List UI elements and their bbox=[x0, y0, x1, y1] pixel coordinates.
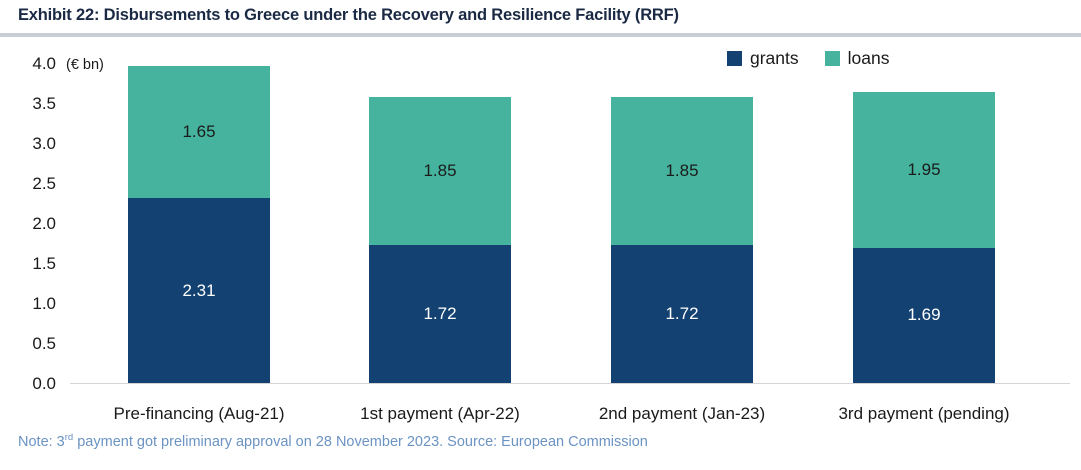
bar-value-label: 1.65 bbox=[128, 123, 270, 140]
bar-segment-grants[interactable]: 1.69 bbox=[853, 248, 995, 383]
x-tick-label: 2nd payment (Jan-23) bbox=[581, 405, 783, 422]
bar-value-label: 1.69 bbox=[853, 306, 995, 323]
x-axis-line bbox=[70, 383, 1070, 384]
title-divider bbox=[0, 33, 1081, 37]
bar-segment-grants[interactable]: 2.31 bbox=[128, 198, 270, 383]
y-tick-label: 1.0 bbox=[8, 295, 56, 312]
bar-segment-loans[interactable]: 1.65 bbox=[128, 66, 270, 198]
y-tick-label: 1.5 bbox=[8, 255, 56, 272]
bar-group[interactable]: 1.691.95 bbox=[853, 40, 995, 383]
y-tick-label: 3.5 bbox=[8, 95, 56, 112]
bar-value-label: 1.72 bbox=[369, 305, 511, 322]
page-title: Exhibit 22: Disbursements to Greece unde… bbox=[18, 6, 679, 25]
y-tick-label: 4.0 bbox=[8, 55, 56, 72]
y-tick-label: 0.0 bbox=[8, 375, 56, 392]
y-tick-label: 2.0 bbox=[8, 215, 56, 232]
footnote: Note: 3rd payment got preliminary approv… bbox=[18, 432, 648, 450]
footnote-prefix: Note: 3 bbox=[18, 434, 65, 450]
y-tick-label: 3.0 bbox=[8, 135, 56, 152]
plot-area: (€ bn) 0.00.51.01.52.02.53.03.54.0 2.311… bbox=[0, 40, 1081, 395]
bar-value-label: 2.31 bbox=[128, 282, 270, 299]
bar-segment-grants[interactable]: 1.72 bbox=[369, 245, 511, 383]
x-tick-label: 1st payment (Apr-22) bbox=[339, 405, 541, 422]
chart-page: Exhibit 22: Disbursements to Greece unde… bbox=[0, 0, 1081, 470]
footnote-ordinal-suffix: rd bbox=[65, 432, 73, 443]
bar-segment-loans[interactable]: 1.85 bbox=[611, 97, 753, 245]
bar-value-label: 1.85 bbox=[369, 162, 511, 179]
bar-group[interactable]: 1.721.85 bbox=[611, 40, 753, 383]
bar-value-label: 1.95 bbox=[853, 161, 995, 178]
x-tick-label: 3rd payment (pending) bbox=[823, 405, 1025, 422]
bar-segment-loans[interactable]: 1.85 bbox=[369, 97, 511, 245]
bar-group[interactable]: 2.311.65 bbox=[128, 40, 270, 383]
bar-value-label: 1.72 bbox=[611, 305, 753, 322]
bar-value-label: 1.85 bbox=[611, 162, 753, 179]
y-tick-label: 2.5 bbox=[8, 175, 56, 192]
footnote-rest: payment got preliminary approval on 28 N… bbox=[73, 434, 648, 450]
bar-group[interactable]: 1.721.85 bbox=[369, 40, 511, 383]
x-tick-label: Pre-financing (Aug-21) bbox=[98, 405, 300, 422]
y-tick-label: 0.5 bbox=[8, 335, 56, 352]
bar-segment-grants[interactable]: 1.72 bbox=[611, 245, 753, 383]
y-axis-unit-label: (€ bn) bbox=[66, 57, 104, 73]
bar-segment-loans[interactable]: 1.95 bbox=[853, 92, 995, 248]
